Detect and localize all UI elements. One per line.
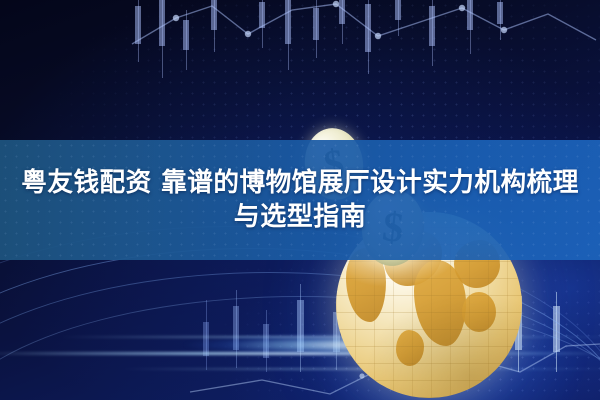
headline-line-1: 粤友钱配资 靠谱的博物馆展厅设计实力机构梳理 — [21, 167, 579, 199]
headline-line-2: 与选型指南 — [234, 201, 367, 233]
banner-image: $ $ 粤友钱配资 靠谱的博物馆展厅设计实力机构梳理 与选型指南 — [0, 0, 600, 400]
headline: 粤友钱配资 靠谱的博物馆展厅设计实力机构梳理 与选型指南 — [0, 140, 600, 260]
